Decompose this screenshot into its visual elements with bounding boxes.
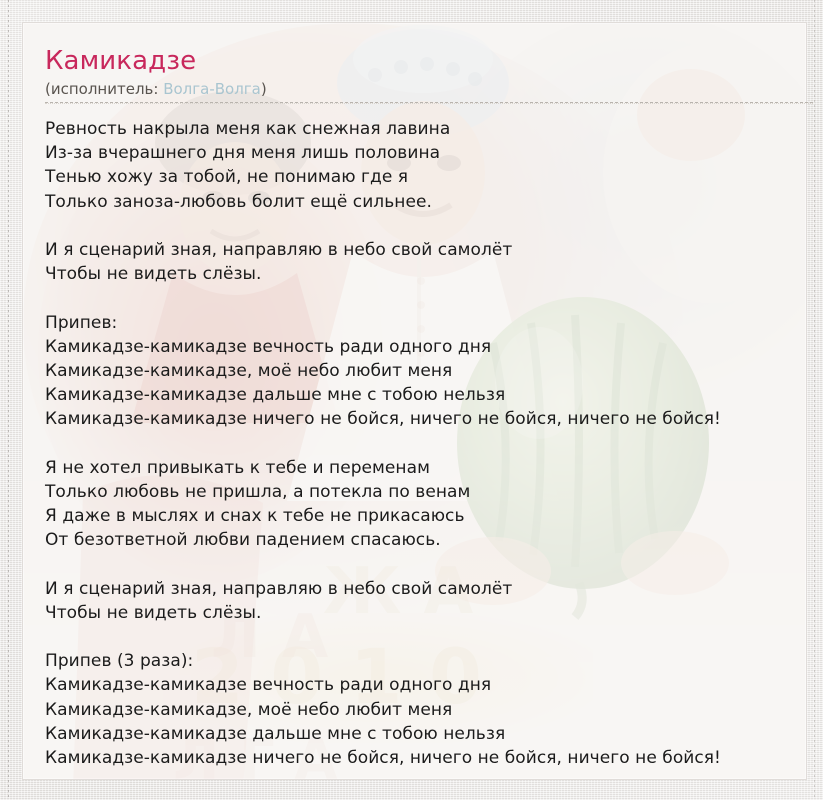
lyric-line: Камикадзе-камикадзе ничего не бойся, нич… [45, 746, 806, 770]
lyric-line: Камикадзе-камикадзе дальше мне с тобою н… [45, 383, 806, 407]
artist-prefix-label: (исполнитель: [45, 80, 163, 98]
lyric-line: Камикадзе-камикадзе вечность ради одного… [45, 335, 806, 359]
artist-suffix-label: ) [261, 80, 267, 98]
lyric-blank-line [45, 431, 806, 455]
lyric-line: Из-за вчерашнего дня меня лишь половина [45, 141, 806, 165]
lyric-line: Я не хотел привыкать к тебе и переменам [45, 456, 806, 480]
artist-link[interactable]: Волга-Волга [163, 80, 261, 98]
lyric-line: И я сценарий зная, направляю в небо свой… [45, 238, 806, 262]
lyric-blank-line [45, 625, 806, 649]
lyric-line: Камикадзе-камикадзе вечность ради одного… [45, 673, 806, 697]
artist-line: (исполнитель: Волга-Волга) [45, 79, 806, 99]
lyric-line: Только любовь не пришла, а потекла по ве… [45, 480, 806, 504]
lyric-line: Припев: [45, 311, 806, 335]
lyric-line: Только заноза-любовь болит ещё сильнее. [45, 190, 806, 214]
lyric-line: Чтобы не видеть слёзы. [45, 601, 806, 625]
lyric-line: Ревность накрыла меня как снежная лавина [45, 117, 806, 141]
lyrics-body: Ревность накрыла меня как снежная лавина… [45, 117, 806, 770]
lyric-line: Я даже в мыслях и снах к тебе не прикаса… [45, 504, 806, 528]
lyric-line: Тенью хожу за тобой, не понимаю где я [45, 165, 806, 189]
lyric-line: Камикадзе-камикадзе, моё небо любит меня [45, 698, 806, 722]
lyric-line: Чтобы не видеть слёзы. [45, 262, 806, 286]
lyric-line: Камикадзе-камикадзе ничего не бойся, нич… [45, 407, 806, 431]
lyric-line: И я сценарий зная, направляю в небо свой… [45, 577, 806, 601]
lyric-blank-line [45, 286, 806, 310]
lyric-line: Припев (3 раза): [45, 649, 806, 673]
lyric-line: Камикадзе-камикадзе дальше мне с тобою н… [45, 722, 806, 746]
header-divider [45, 102, 813, 104]
page-title: Камикадзе [45, 45, 806, 77]
lyric-blank-line [45, 552, 806, 576]
lyrics-sheet: 2 0 1 0 Ж А Л А Л Г А Камикадзе (исполни… [22, 22, 807, 780]
left-dotted-rule [8, 0, 9, 800]
lyric-blank-line [45, 214, 806, 238]
right-dotted-rule [814, 0, 815, 800]
lyric-line: Камикадзе-камикадзе, моё небо любит меня [45, 359, 806, 383]
lyric-line: От безответной любви падением спасаюсь. [45, 528, 806, 552]
